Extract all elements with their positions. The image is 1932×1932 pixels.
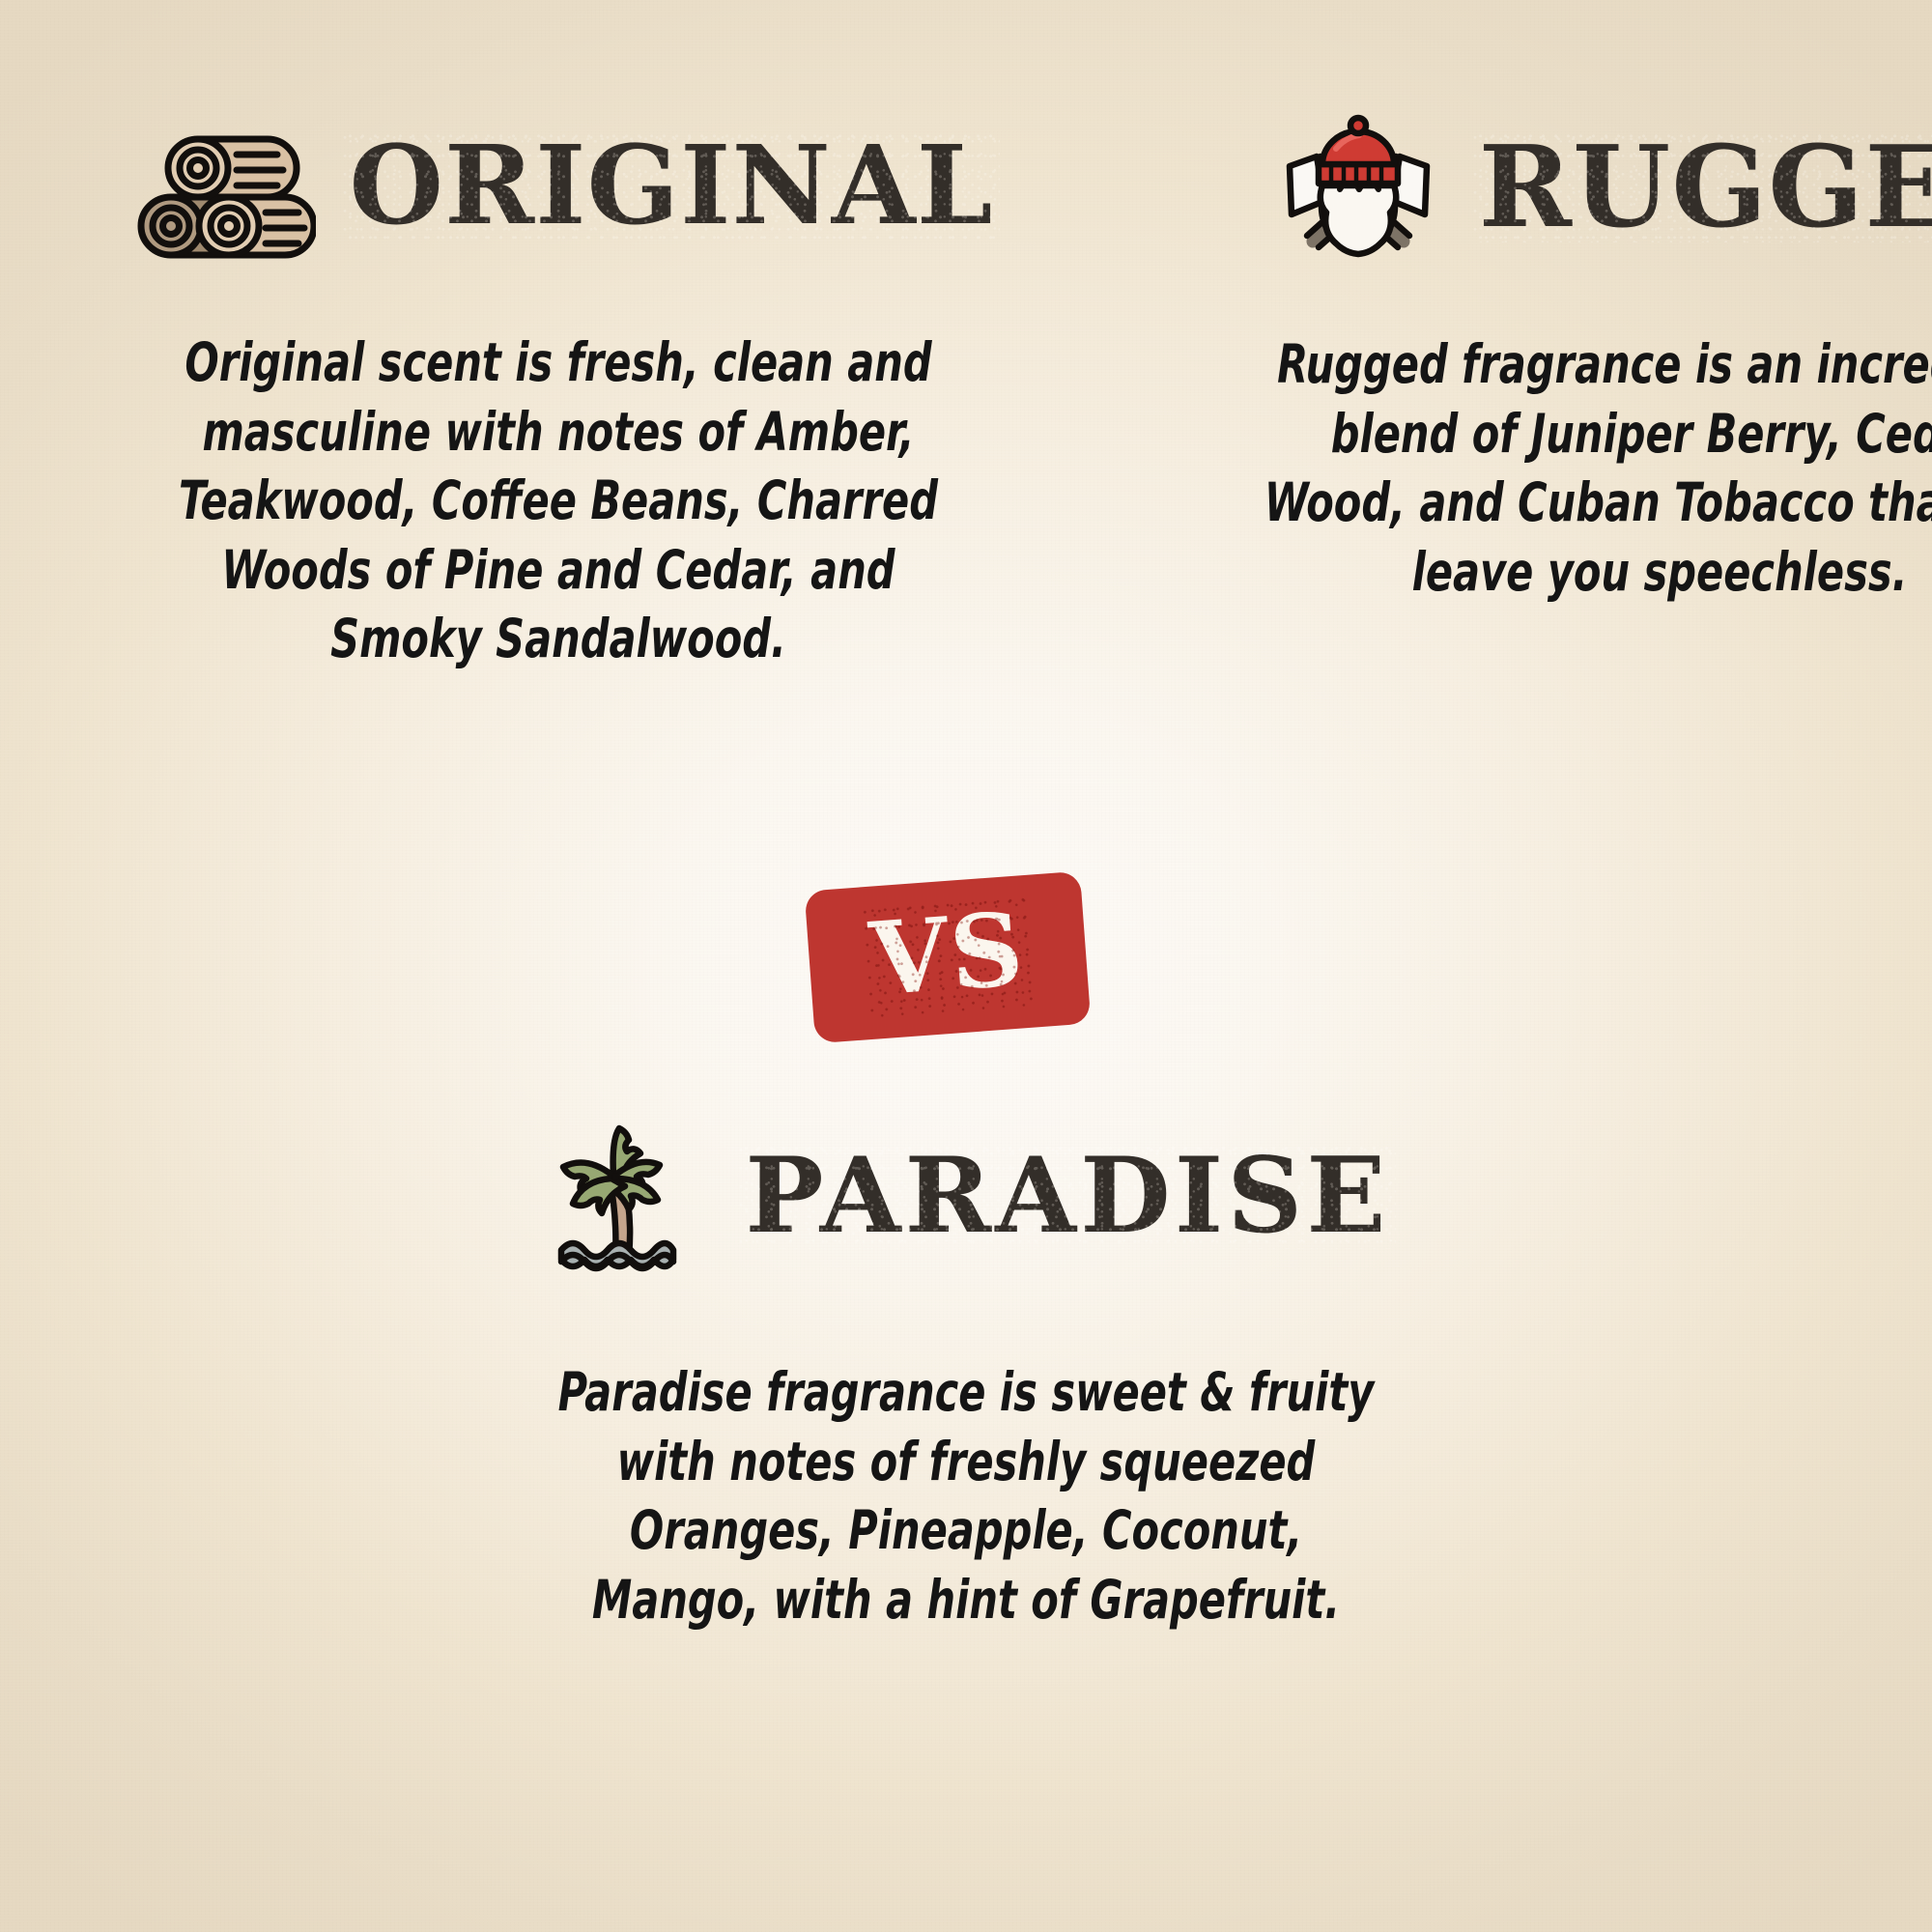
section-original-header: ORIGINAL bbox=[75, 114, 1041, 259]
fragrance-comparison-graphic: ORIGINAL Original scent is fresh, clean … bbox=[0, 0, 1932, 1932]
palm-tree-icon bbox=[542, 1121, 689, 1273]
versus-label: VS bbox=[867, 898, 1028, 1015]
section-paradise: PARADISE Paradise fragrance is sweet & f… bbox=[0, 1121, 1932, 1634]
section-original-description: Original scent is fresh, clean and mascu… bbox=[153, 328, 964, 674]
stacked-logs-icon bbox=[123, 114, 316, 259]
section-paradise-description: Paradise fragrance is sweet & fruity wit… bbox=[553, 1358, 1380, 1634]
section-original-title: ORIGINAL bbox=[349, 136, 993, 236]
section-rugged: RUGGED Rugged fragrance is an incredible… bbox=[1109, 0, 1932, 869]
section-original: ORIGINAL Original scent is fresh, clean … bbox=[0, 0, 1109, 869]
section-rugged-title: RUGGED bbox=[1479, 136, 1932, 240]
top-comparison-row: ORIGINAL Original scent is fresh, clean … bbox=[0, 0, 1932, 869]
section-paradise-header: PARADISE bbox=[0, 1121, 1932, 1273]
section-paradise-title: PARADISE bbox=[745, 1149, 1389, 1244]
section-rugged-description: Rugged fragrance is an incredible blend … bbox=[1254, 330, 1932, 607]
section-rugged-header: RUGGED bbox=[1177, 114, 1932, 261]
versus-badge: VS bbox=[805, 871, 1092, 1044]
lumberjack-axes-icon bbox=[1270, 114, 1446, 261]
